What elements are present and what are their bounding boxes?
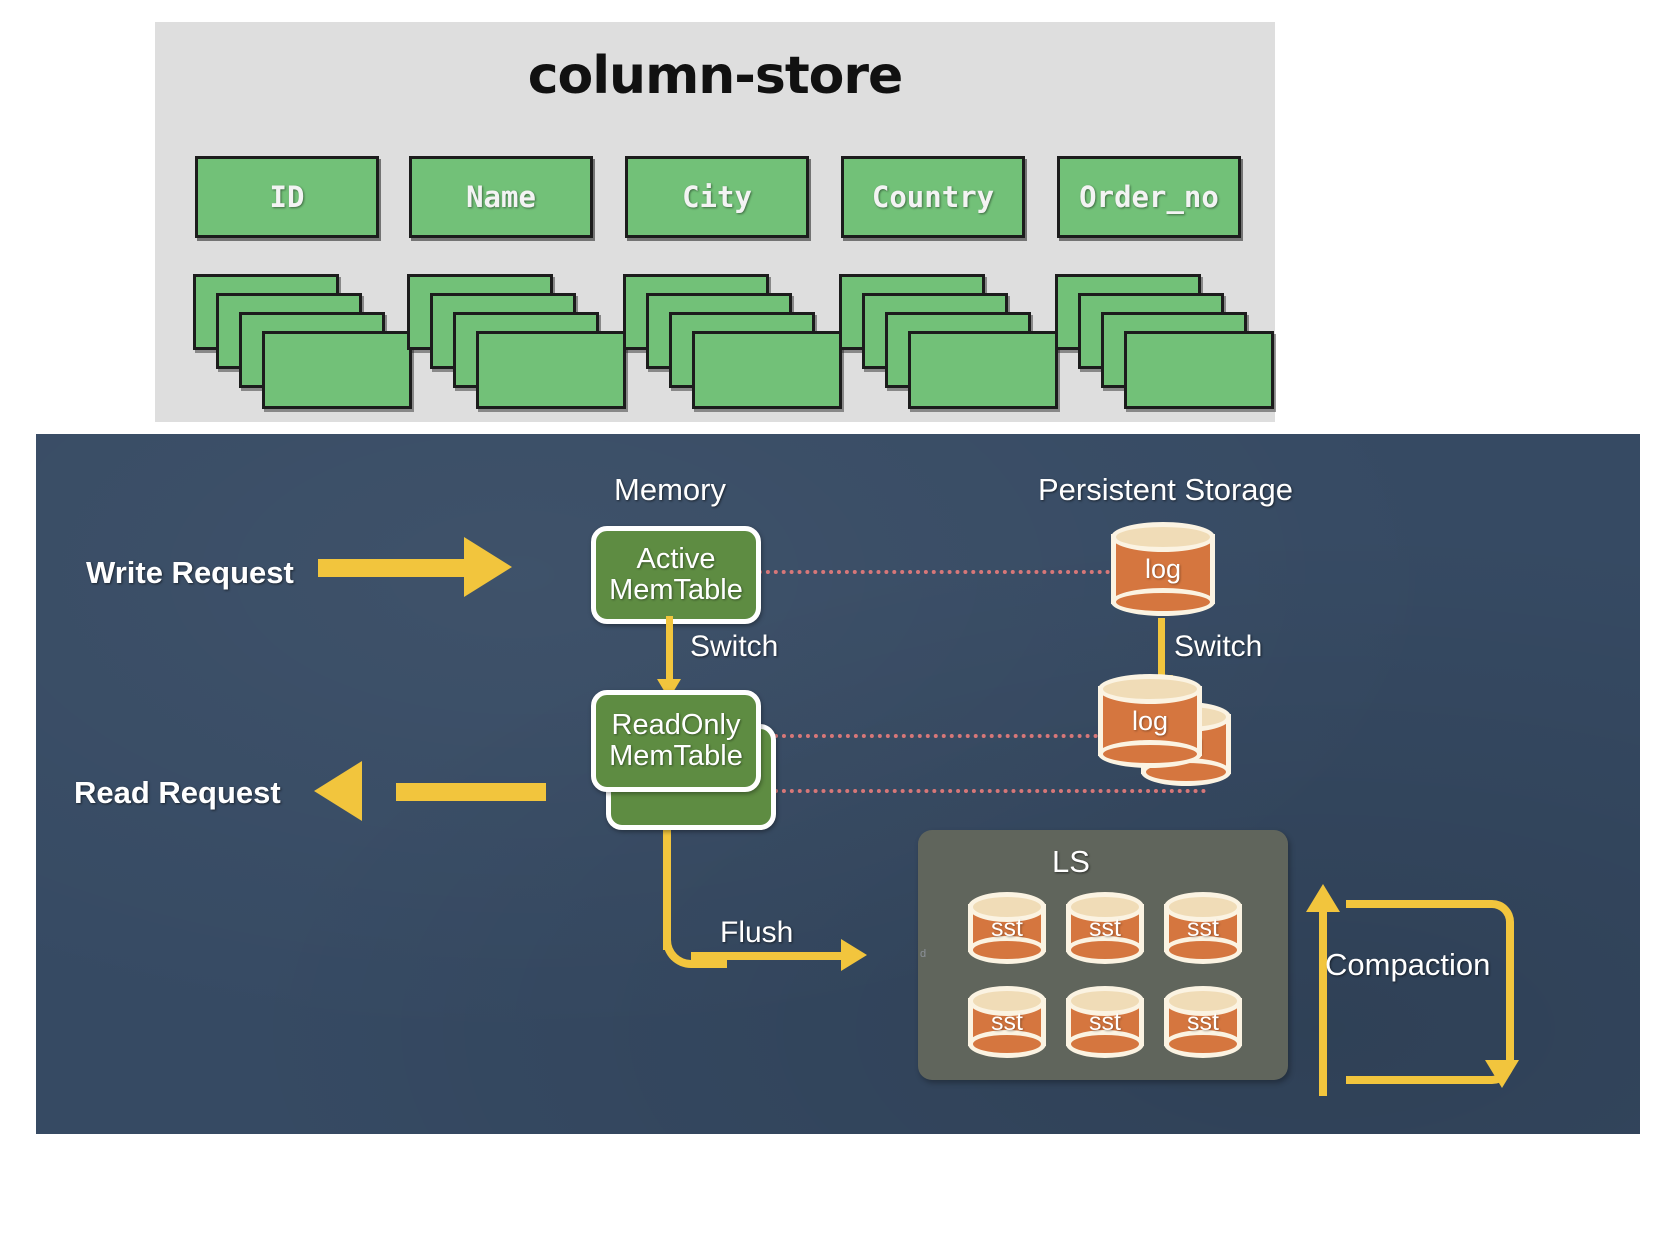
readonly-memtable-line2: MemTable	[609, 741, 743, 772]
log-cylinder-label: log	[1145, 554, 1181, 585]
log-cylinder-label: log	[1132, 706, 1168, 737]
readonly-memtable-node: ReadOnly MemTable	[591, 690, 761, 792]
sst-label: sst	[1089, 1008, 1121, 1037]
log-cylinder-active: log	[1111, 522, 1215, 616]
column-header-order-no: Order_no	[1057, 156, 1241, 238]
read-arrow-head	[314, 761, 362, 821]
column-header-label: Country	[872, 180, 994, 214]
log-cylinder-readonly: log	[1098, 674, 1202, 768]
read-arrow-shaft	[396, 783, 546, 801]
column-header-country: Country	[841, 156, 1025, 238]
column-header-label: City	[682, 180, 752, 214]
active-memtable-line1: Active	[637, 544, 716, 575]
write-arrow-shaft	[318, 559, 468, 577]
dotted-link-readonly-to-log	[758, 734, 1098, 738]
sst-label: sst	[991, 914, 1023, 943]
write-request-label: Write Request	[86, 555, 294, 591]
column-header-id: ID	[195, 156, 379, 238]
compaction-label: Compaction	[1325, 947, 1490, 983]
switch-memory-label: Switch	[690, 630, 778, 664]
column-group-name: Name	[381, 156, 571, 406]
flush-label: Flush	[720, 916, 793, 950]
switch-memory-arrow-shaft	[666, 616, 673, 684]
column-header-label: Order_no	[1079, 180, 1219, 214]
column-header-label: ID	[270, 180, 305, 214]
sst-label: sst	[1089, 914, 1121, 943]
flush-arrow-head	[841, 939, 867, 971]
ls-panel-title: LS	[1052, 844, 1090, 880]
lsm-diagram-panel: Memory Persistent Storage Write Request …	[36, 434, 1640, 1134]
column-header-label: Name	[466, 180, 536, 214]
compaction-loop-path	[1346, 900, 1514, 1084]
readonly-memtable-line1: ReadOnly	[612, 710, 741, 741]
sst-cylinder: sst	[1066, 892, 1144, 964]
persistent-storage-section-label: Persistent Storage	[1038, 472, 1293, 508]
flush-arrow-horizontal	[691, 952, 845, 960]
column-group-city: City	[597, 156, 787, 406]
stray-mark: d	[920, 948, 926, 960]
write-arrow-head	[464, 537, 512, 597]
column-store-title: column-store	[155, 46, 1275, 106]
column-header-name: Name	[409, 156, 593, 238]
sst-cylinder: sst	[968, 986, 1046, 1058]
sst-label: sst	[1187, 914, 1219, 943]
sst-cylinder: sst	[1164, 986, 1242, 1058]
compaction-arrow-down-head	[1485, 1060, 1519, 1088]
column-group-order-no: Order_no	[1029, 156, 1219, 406]
sst-cylinder: sst	[968, 892, 1046, 964]
column-group-id: ID	[167, 156, 357, 406]
column-header-city: City	[625, 156, 809, 238]
active-memtable-line2: MemTable	[609, 575, 743, 606]
dotted-link-readonly-back-to-log	[774, 789, 1206, 793]
column-group-country: Country	[813, 156, 1003, 406]
compaction-arrow-up-head	[1306, 884, 1340, 912]
column-cell	[1124, 331, 1274, 409]
compaction-arrow-up-shaft	[1319, 906, 1327, 1096]
sst-label: sst	[1187, 1008, 1219, 1037]
sst-label: sst	[991, 1008, 1023, 1037]
sst-cylinder: sst	[1164, 892, 1242, 964]
switch-storage-label: Switch	[1174, 630, 1262, 664]
dotted-link-active-to-log	[758, 570, 1110, 574]
active-memtable-node: Active MemTable	[591, 526, 761, 624]
column-store-panel: column-store ID Name City	[155, 22, 1275, 422]
screenshot-root: column-store ID Name City	[0, 0, 1674, 1248]
switch-storage-arrow-shaft	[1158, 618, 1165, 680]
read-request-label: Read Request	[74, 775, 281, 811]
sst-cylinder: sst	[1066, 986, 1144, 1058]
memory-section-label: Memory	[614, 472, 726, 508]
ls-panel: LS sst sst sst sst sst	[918, 830, 1288, 1080]
